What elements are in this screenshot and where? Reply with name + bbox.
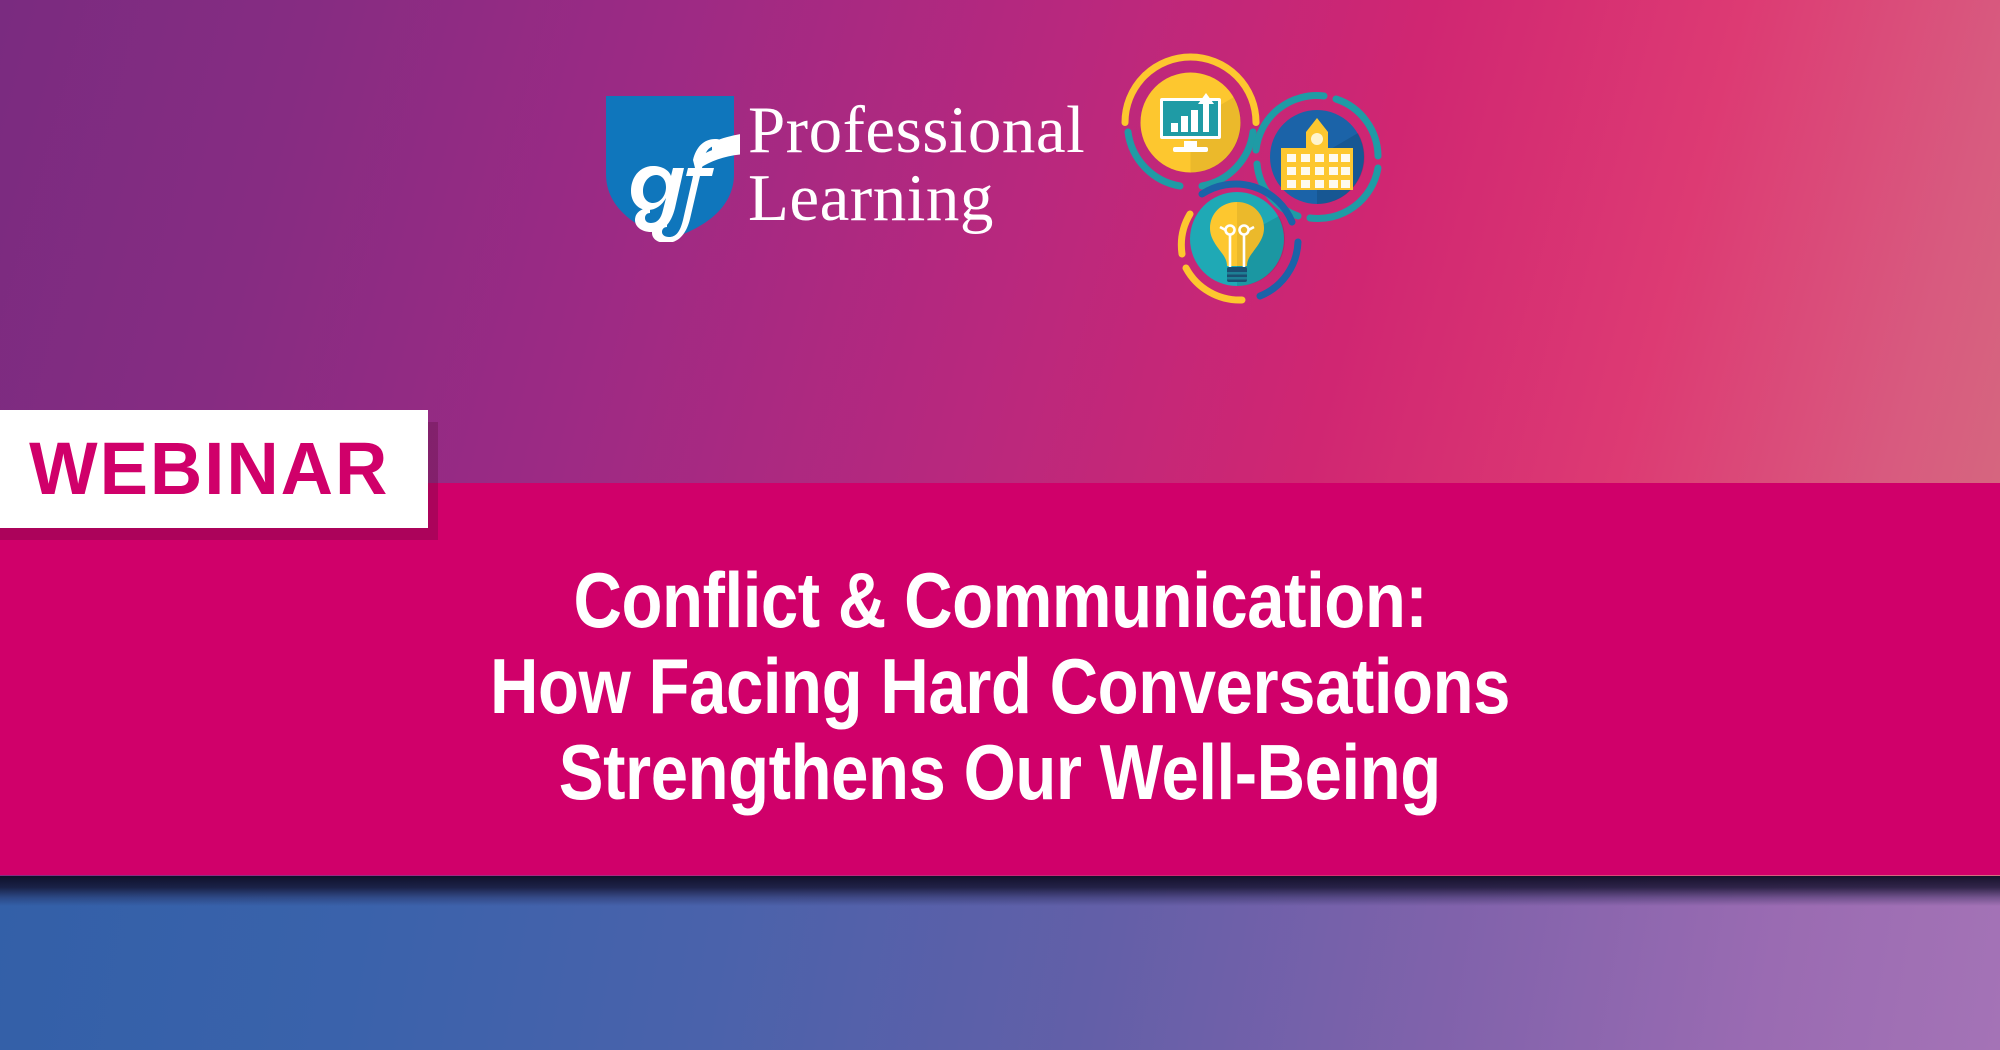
title-block: Conflict & Communication: How Facing Har… [0, 483, 2000, 875]
title-line-3: Strengthens Our Well-Being [559, 730, 1441, 816]
wordmark-line-2: Learning [748, 164, 1085, 232]
title-band: Conflict & Communication: How Facing Har… [0, 483, 2000, 875]
band-drop-shadow [0, 876, 2000, 906]
webinar-badge: WEBINAR [0, 410, 428, 528]
wordmark-line-1: Professional [748, 96, 1085, 164]
professional-learning-wordmark: Professional Learning [748, 96, 1085, 233]
lightbulb-icon [1168, 170, 1306, 308]
aft-shield-icon [600, 92, 740, 232]
title-line-1: Conflict & Communication: [573, 558, 1427, 644]
webinar-title-slide: Professional Learning [0, 0, 2000, 1050]
aft-professional-learning-logo: Professional Learning [600, 88, 1085, 233]
icon-cluster [1100, 40, 1370, 300]
webinar-badge-label: WEBINAR [0, 432, 389, 506]
title-line-2: How Facing Hard Conversations [490, 644, 1510, 730]
